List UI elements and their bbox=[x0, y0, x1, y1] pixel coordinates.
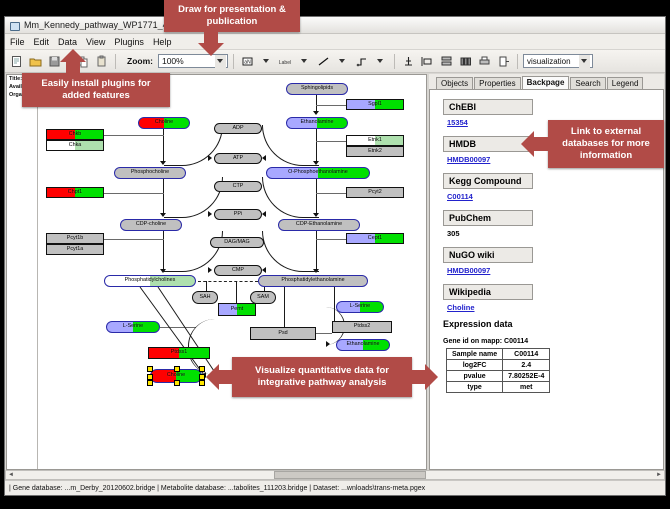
node-label: Ptdss2 bbox=[354, 324, 370, 329]
node-label: Cept1 bbox=[368, 236, 382, 241]
callout-draw: Draw for presentation & publication bbox=[164, 0, 300, 32]
tool-bar: Zoom: 100% aN Label bbox=[5, 50, 665, 73]
menu-item-file[interactable]: File bbox=[10, 37, 25, 47]
selection-handle[interactable] bbox=[199, 380, 205, 386]
scroll-left-icon[interactable]: ◄ bbox=[6, 472, 16, 478]
edge-pc-pe-dashed bbox=[198, 281, 258, 282]
anchor-icon[interactable] bbox=[400, 53, 417, 70]
table-row: type met bbox=[447, 382, 550, 393]
line-icon[interactable] bbox=[315, 53, 332, 70]
callout-plugins-arrow-icon bbox=[60, 48, 86, 76]
arrow-right-icon bbox=[326, 341, 330, 347]
zoom-value: 100% bbox=[162, 56, 184, 66]
connector-icon[interactable] bbox=[353, 53, 370, 70]
toolbar-separator bbox=[233, 54, 234, 69]
node-label: Phosphatidylcholines bbox=[125, 278, 176, 283]
side-panel-tabs: Objects Properties Backpage Search Legen… bbox=[429, 74, 664, 90]
node-label: Pcyt1a bbox=[67, 247, 83, 252]
node-label: Choline bbox=[155, 120, 173, 125]
edge-cept1-to-backbone bbox=[316, 239, 346, 240]
export-icon[interactable] bbox=[495, 53, 512, 70]
edge-pcyt1-to-backbone bbox=[104, 239, 164, 240]
distribute-icon[interactable] bbox=[457, 53, 474, 70]
arrow-down-icon bbox=[313, 111, 319, 115]
arrow-right-icon bbox=[208, 211, 212, 217]
node-label: Ptdss1 bbox=[171, 350, 187, 355]
node-label: Etnk1 bbox=[368, 138, 382, 143]
node-label: CDP-Ethanolamine bbox=[296, 222, 342, 227]
node-label: Phosphatidylethanolamine bbox=[281, 278, 344, 283]
tab-search[interactable]: Search bbox=[570, 77, 605, 89]
metabolite-l-serine[interactable]: L-Serine bbox=[106, 321, 160, 333]
selection-handle[interactable] bbox=[147, 366, 153, 372]
wikipedia-heading: Wikipedia bbox=[443, 284, 533, 300]
toolbar-separator bbox=[394, 54, 395, 69]
node-label: Choline bbox=[167, 373, 185, 378]
row-key: type bbox=[447, 382, 503, 393]
selection-handle[interactable] bbox=[174, 366, 180, 372]
metabolite-l-serine[interactable]: L-Serine bbox=[336, 301, 384, 313]
menu-item-view[interactable]: View bbox=[86, 37, 105, 47]
edge-chpt1-to-backbone bbox=[104, 193, 164, 194]
stack-icon[interactable] bbox=[438, 53, 455, 70]
node-label: Chkb bbox=[69, 132, 82, 137]
table-row: log2FC 2.4 bbox=[447, 360, 550, 371]
zoom-label: Zoom: bbox=[127, 56, 153, 66]
node-label: CDP-choline bbox=[136, 222, 166, 227]
node-label: Psd bbox=[278, 331, 287, 336]
cofactor-ppi[interactable]: PPi bbox=[214, 209, 262, 220]
pubchem-value: 305 bbox=[447, 229, 663, 238]
align-left-icon[interactable] bbox=[419, 53, 436, 70]
node-label: Pcyt1b bbox=[67, 236, 83, 241]
row-value: 2.4 bbox=[503, 360, 550, 371]
svg-text:Label: Label bbox=[279, 60, 291, 66]
pathway-info-column: Title: Availa Organi bbox=[7, 75, 38, 469]
arrow-right-icon bbox=[208, 155, 212, 161]
selection-handle[interactable] bbox=[199, 366, 205, 372]
row-value: 7.80252E-4 bbox=[503, 371, 550, 382]
gene-etnk2[interactable]: Etnk2 bbox=[346, 146, 404, 157]
gene-chka[interactable]: Chka bbox=[46, 140, 104, 151]
gene-pcyt2[interactable]: Pcyt2 bbox=[346, 187, 404, 198]
row-key: Sample name bbox=[447, 349, 503, 360]
tab-legend[interactable]: Legend bbox=[607, 77, 644, 89]
edge-serine-left bbox=[160, 327, 196, 328]
node-label: Etnk2 bbox=[368, 149, 382, 154]
pubchem-heading: PubChem bbox=[443, 210, 533, 226]
kegg-compound-link[interactable]: C00114 bbox=[447, 192, 663, 201]
gene-chpt1[interactable]: Chpt1 bbox=[46, 187, 104, 198]
line-dropdown-icon[interactable] bbox=[334, 53, 351, 70]
edge-sah-stub bbox=[206, 281, 207, 291]
node-label: L-Serine bbox=[123, 324, 143, 329]
row-value: met bbox=[503, 382, 550, 393]
expression-table: Sample name C00114 log2FC 2.4 pvalue 7.8… bbox=[446, 348, 550, 393]
metabolite-ethanolamine[interactable]: Ethanolamine bbox=[286, 117, 348, 129]
table-row: Sample name C00114 bbox=[447, 349, 550, 360]
menu-item-data[interactable]: Data bbox=[58, 37, 77, 47]
cofactor-cmp[interactable]: CMP bbox=[214, 265, 262, 276]
wikipedia-link[interactable]: Choline bbox=[447, 303, 663, 312]
arrow-right-icon bbox=[208, 267, 212, 273]
callout-plugins-text: Easily install plugins for added feature… bbox=[28, 78, 164, 102]
callout-visualize-text: Visualize quantitative data for integrat… bbox=[238, 365, 406, 389]
metabolite-phosphatidylcholines[interactable]: Phosphatidylcholines bbox=[104, 275, 196, 287]
gene-id-on-mapp: Gene id on mapp: C00114 bbox=[443, 338, 663, 345]
svg-text:aN: aN bbox=[244, 59, 251, 65]
metabolite-phosphatidylethanolamine[interactable]: Phosphatidylethanolamine bbox=[258, 275, 368, 287]
callout-draw-text: Draw for presentation & publication bbox=[170, 4, 294, 28]
connector-dropdown-icon[interactable] bbox=[372, 53, 389, 70]
menu-item-help[interactable]: Help bbox=[153, 37, 172, 47]
reaction-arc bbox=[262, 231, 319, 272]
app-root: Mm_Kennedy_pathway_WP1771_45176.gpml Fil… bbox=[0, 0, 670, 509]
metabolite-o-phosphoethanolamine[interactable]: O-Phosphoethanolamine bbox=[266, 167, 370, 179]
pathway-drawing[interactable]: CholinePhosphocholineCDP-cholinePhosphat… bbox=[38, 75, 426, 469]
nugo-wiki-heading: NuGO wiki bbox=[443, 247, 533, 263]
node-label: Ethanolamine bbox=[347, 342, 380, 347]
node-label: Pemt bbox=[231, 307, 244, 312]
expression-data-title: Expression data bbox=[443, 319, 663, 329]
gene-pcyt1b[interactable]: Pcyt1b bbox=[46, 233, 104, 244]
toolbar-separator bbox=[115, 54, 116, 69]
tab-backpage[interactable]: Backpage bbox=[522, 76, 570, 89]
kegg-compound-heading: Kegg Compound bbox=[443, 173, 533, 189]
node-label: O-Phosphoethanolamine bbox=[288, 170, 348, 175]
tab-properties[interactable]: Properties bbox=[474, 77, 520, 89]
app-icon bbox=[9, 20, 20, 31]
callout-links: Link to external databases for more info… bbox=[548, 120, 664, 168]
node-label: PPi bbox=[234, 212, 242, 217]
pathway-canvas[interactable]: Title: Availa Organi bbox=[6, 74, 427, 470]
menu-item-plugins[interactable]: Plugins bbox=[114, 37, 144, 47]
node-label: Phosphocholine bbox=[131, 170, 169, 175]
data-node-dropdown-icon[interactable] bbox=[258, 53, 275, 70]
gene-pemt[interactable]: Pemt bbox=[218, 303, 256, 316]
row-key: pvalue bbox=[447, 371, 503, 382]
selection-handle[interactable] bbox=[174, 380, 180, 386]
paste-icon[interactable] bbox=[93, 53, 110, 70]
visualization-value: visualization bbox=[527, 57, 571, 66]
tab-objects[interactable]: Objects bbox=[436, 77, 473, 89]
gene-sgpl1[interactable]: Sgpl1 bbox=[346, 99, 404, 110]
scrollbar-thumb[interactable] bbox=[274, 471, 426, 479]
arrow-left-icon bbox=[262, 155, 266, 161]
callout-visualize-arrow-icon bbox=[206, 364, 234, 390]
node-label: SAH bbox=[199, 295, 210, 300]
node-label: Sphingolipids bbox=[301, 86, 333, 91]
cofactor-dag-mag[interactable]: DAG/MAG bbox=[210, 237, 264, 248]
metabolite-cdp-ethanolamine[interactable]: CDP-Ethanolamine bbox=[278, 219, 360, 231]
row-key: log2FC bbox=[447, 360, 503, 371]
node-label: Chka bbox=[69, 143, 82, 148]
gene-ptdss1[interactable]: Ptdss1 bbox=[148, 347, 210, 359]
scroll-right-icon[interactable]: ► bbox=[654, 472, 664, 478]
arrow-left-icon bbox=[262, 211, 266, 217]
visualization-combobox[interactable]: visualization bbox=[523, 54, 593, 68]
node-label: ADP bbox=[232, 126, 243, 131]
label-dropdown-icon[interactable] bbox=[296, 53, 313, 70]
cofactor-atp[interactable]: ATP bbox=[214, 153, 262, 164]
callout-visualize: Visualize quantitative data for integrat… bbox=[232, 357, 412, 397]
metabolite-cdp-choline[interactable]: CDP-choline bbox=[120, 219, 182, 231]
node-label: CTP bbox=[233, 184, 244, 189]
data-node-icon[interactable]: aN bbox=[239, 53, 256, 70]
nugo-wiki-link[interactable]: HMDB00097 bbox=[447, 266, 663, 275]
table-row: pvalue 7.80252E-4 bbox=[447, 371, 550, 382]
callout-plugins: Easily install plugins for added feature… bbox=[22, 73, 170, 107]
arrow-left-icon bbox=[262, 267, 266, 273]
hmdb-heading: HMDB bbox=[443, 136, 533, 152]
metabolite-choline[interactable]: Choline bbox=[138, 117, 190, 129]
edge-sgpl1-to-backbone bbox=[316, 105, 346, 106]
metabolite-sphingolipids[interactable]: Sphingolipids bbox=[286, 83, 348, 95]
label-icon[interactable]: Label bbox=[277, 53, 294, 70]
node-label: ATP bbox=[233, 156, 243, 161]
metabolite-ethanolamine[interactable]: Ethanolamine bbox=[336, 339, 390, 351]
node-label: CMP bbox=[232, 268, 244, 273]
visualization-dropdown-button[interactable] bbox=[579, 55, 590, 68]
callout-visualize-arrow-right-icon bbox=[410, 364, 438, 390]
new-file-icon[interactable] bbox=[8, 53, 25, 70]
metabolite-phosphocholine[interactable]: Phosphocholine bbox=[114, 167, 186, 179]
cofactor-ctp[interactable]: CTP bbox=[214, 181, 262, 192]
gene-pcyt1a[interactable]: Pcyt1a bbox=[46, 244, 104, 255]
callout-draw-arrow-icon bbox=[198, 31, 224, 57]
title-bar: Mm_Kennedy_pathway_WP1771_45176.gpml bbox=[5, 17, 665, 34]
node-label: Chpt1 bbox=[68, 190, 82, 195]
edge-chk-to-backbone bbox=[104, 135, 164, 136]
gene-cept1[interactable]: Cept1 bbox=[346, 233, 404, 244]
chebi-heading: ChEBI bbox=[443, 99, 533, 115]
node-label: Sgpl1 bbox=[368, 102, 382, 107]
node-label: SAM bbox=[257, 295, 269, 300]
menu-item-edit[interactable]: Edit bbox=[34, 37, 50, 47]
node-label: L-Serine bbox=[350, 304, 370, 309]
toolbar-separator bbox=[517, 54, 518, 69]
node-label: Ethanolamine bbox=[301, 120, 334, 125]
edge-pemt-stub bbox=[236, 281, 237, 303]
canvas-horizontal-scrollbar[interactable]: ◄ ► bbox=[5, 470, 665, 480]
status-bar: | Gene database: ...m_Derby_20120602.bri… bbox=[5, 480, 665, 495]
open-file-icon[interactable] bbox=[27, 53, 44, 70]
gene-ptdss2[interactable]: Ptdss2 bbox=[332, 321, 392, 333]
callout-links-text: Link to external databases for more info… bbox=[554, 126, 658, 162]
edge-etnk-to-backbone bbox=[316, 141, 346, 142]
gene-psd[interactable]: Psd bbox=[250, 327, 316, 340]
callout-links-arrow-icon bbox=[521, 131, 551, 157]
menu-bar: File Edit Data View Plugins Help bbox=[5, 34, 665, 50]
node-label: DAG/MAG bbox=[224, 240, 249, 245]
selection-handle[interactable] bbox=[147, 380, 153, 386]
edge-pcyt2-to-backbone bbox=[316, 193, 346, 194]
node-label: Pcyt2 bbox=[368, 190, 381, 195]
print-icon[interactable] bbox=[476, 53, 493, 70]
status-bar-text: | Gene database: ...m_Derby_20120602.bri… bbox=[9, 485, 425, 492]
reaction-arc bbox=[262, 125, 319, 166]
gene-chkb[interactable]: Chkb bbox=[46, 129, 104, 140]
row-value: C00114 bbox=[503, 349, 550, 360]
reaction-arc bbox=[262, 177, 319, 218]
gene-etnk1[interactable]: Etnk1 bbox=[346, 135, 404, 146]
cofactor-sah[interactable]: SAH bbox=[192, 291, 218, 304]
cofactor-adp[interactable]: ADP bbox=[214, 123, 262, 134]
